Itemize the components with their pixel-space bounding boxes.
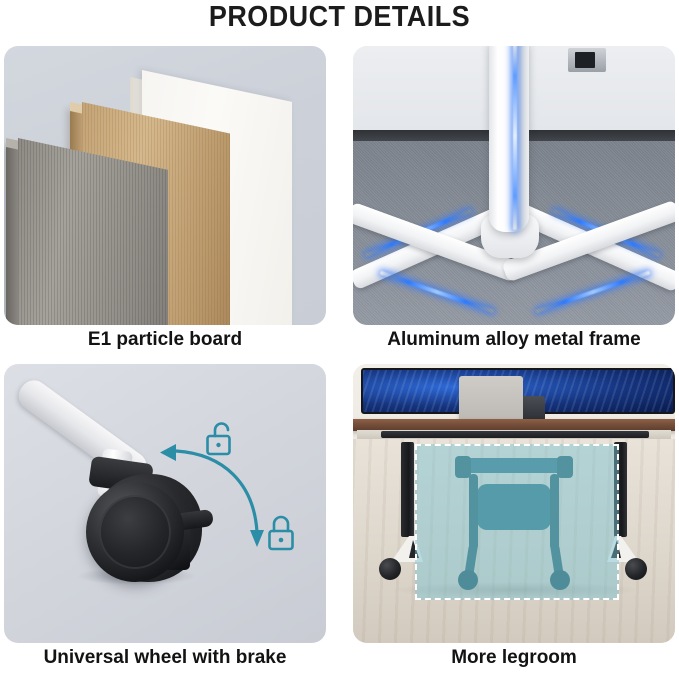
blue-glow-column xyxy=(513,46,517,230)
legroom-highlight-region xyxy=(415,444,619,600)
unlock-padlock-icon xyxy=(204,419,238,459)
desk-leg-post-left xyxy=(401,442,414,537)
universal-wheel-photo xyxy=(4,364,326,643)
detail-card-more-legroom: More legroom xyxy=(353,364,675,643)
detail-card-metal-frame: Aluminum alloy metal frame xyxy=(353,46,675,325)
lock-padlock-icon xyxy=(266,512,300,554)
detail-card-universal-wheel: Universal wheel with brake xyxy=(4,364,326,643)
caption-metal-frame: Aluminum alloy metal frame xyxy=(353,329,675,351)
detail-card-particle-board: E1 particle board xyxy=(4,46,326,325)
desk-cable-rail xyxy=(381,431,649,438)
caption-particle-board: E1 particle board xyxy=(4,329,326,351)
desk-caster-left xyxy=(379,558,401,580)
page-title: PRODUCT DETAILS xyxy=(24,0,655,40)
product-details-grid: E1 particle board Aluminum alloy metal f… xyxy=(0,44,679,673)
frame-center-column xyxy=(489,46,529,232)
wall-vent xyxy=(568,48,606,72)
more-legroom-photo xyxy=(353,364,675,643)
caption-universal-wheel: Universal wheel with brake xyxy=(4,647,326,669)
metal-frame-photo xyxy=(353,46,675,325)
caption-more-legroom: More legroom xyxy=(353,647,675,669)
gray-board-face xyxy=(18,138,168,325)
desk-caster-right xyxy=(625,558,647,580)
laptop xyxy=(459,376,523,420)
particle-board-photo xyxy=(4,46,326,325)
